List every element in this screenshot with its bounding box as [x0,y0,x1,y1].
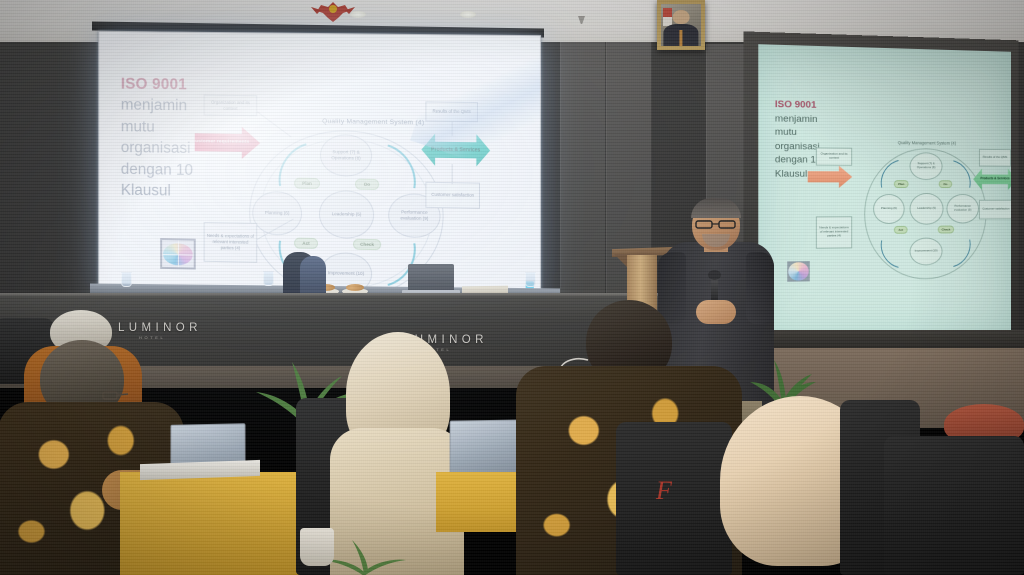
water-glass [525,272,536,287]
side-clause-node-leadership: Leadership (5) [910,193,944,225]
side-pdca-pill-plan: Plan [894,180,909,188]
secondary-projection-screen: ISO 9001 menjamin mutu organisasi dengan… [744,31,1019,352]
side-output-box-results-of-qms: Results of the QMS [979,149,1011,167]
clause-node-support-operations: Support (7) & Operations (8) [320,134,372,177]
clause-node-leadership: Leadership (5) [319,190,374,239]
input-box-interested-parties: Needs & expectations of relevant interes… [204,222,258,263]
input-arrow-label: Customer requirements [192,139,250,146]
output-box-customer-satisfaction: Customer satisfaction [425,182,480,209]
glasses-icon [102,388,136,399]
pdca-pill-do: Do [355,179,379,190]
clause-node-planning: Planning (6) [252,191,302,236]
conference-room-photo: ISO 9001 menjamin mutu organisasi dengan… [0,0,1024,575]
stage-riser [760,330,1024,348]
paper-cup [300,528,334,566]
side-clause-node-planning: Planning (6) [873,194,905,224]
pdca-pill-check: Check [353,239,381,251]
water-glass [121,272,132,287]
microphone-head [708,270,721,280]
input-box-organization-context: Organization and its context [204,95,258,117]
garuda-emblem [305,0,361,24]
slide-heading-iso: ISO 9001 [121,76,187,94]
pdca-pill-plan: Plan [294,178,320,189]
presenter-hair [691,198,741,218]
output-box-results-of-qms: Results of the QMS [425,101,478,122]
pdca-pill-act: Act [294,238,318,249]
table-cloth-gold [120,472,300,575]
presenter-arm-right [746,252,774,324]
side-output-arrow-label: Products & Services [980,177,1009,181]
side-pdca-pill-check: Check [938,226,954,234]
pie-chart-thumbnail [160,238,196,270]
stage-laptop [408,264,454,290]
chair-monogram: F [656,476,672,506]
output-arrow-label: Products & Services [431,147,480,154]
side-clause-node-performance-evaluation: Performance evaluation (9) [946,194,979,224]
side-output-box-customer-satisfaction: Customer satisfaction [979,200,1011,220]
wall-stone-panel [560,42,606,302]
water-glass [263,271,274,286]
output-arrow-products-services: Products & Services [421,133,490,166]
connector-line [452,164,453,184]
ceiling-downlight [460,11,476,18]
glasses-icon [695,216,737,225]
side-clause-node-support-operations: Support (7) & Operations (8) [910,152,943,180]
connector-line [452,122,453,136]
side-input-box-interested-parties: Needs & expectations of relevant interes… [816,216,852,249]
framed-official-portrait [657,0,705,50]
side-pdca-pill-do: Do [939,180,952,188]
side-diagram-caption: Quality Management System (4) [864,140,988,146]
side-pie-chart-thumbnail [787,261,810,282]
side-pdca-pill-act: Act [894,226,908,234]
side-input-box-organization-context: Organization and its context [816,147,852,165]
conference-chair[interactable] [884,436,1024,575]
